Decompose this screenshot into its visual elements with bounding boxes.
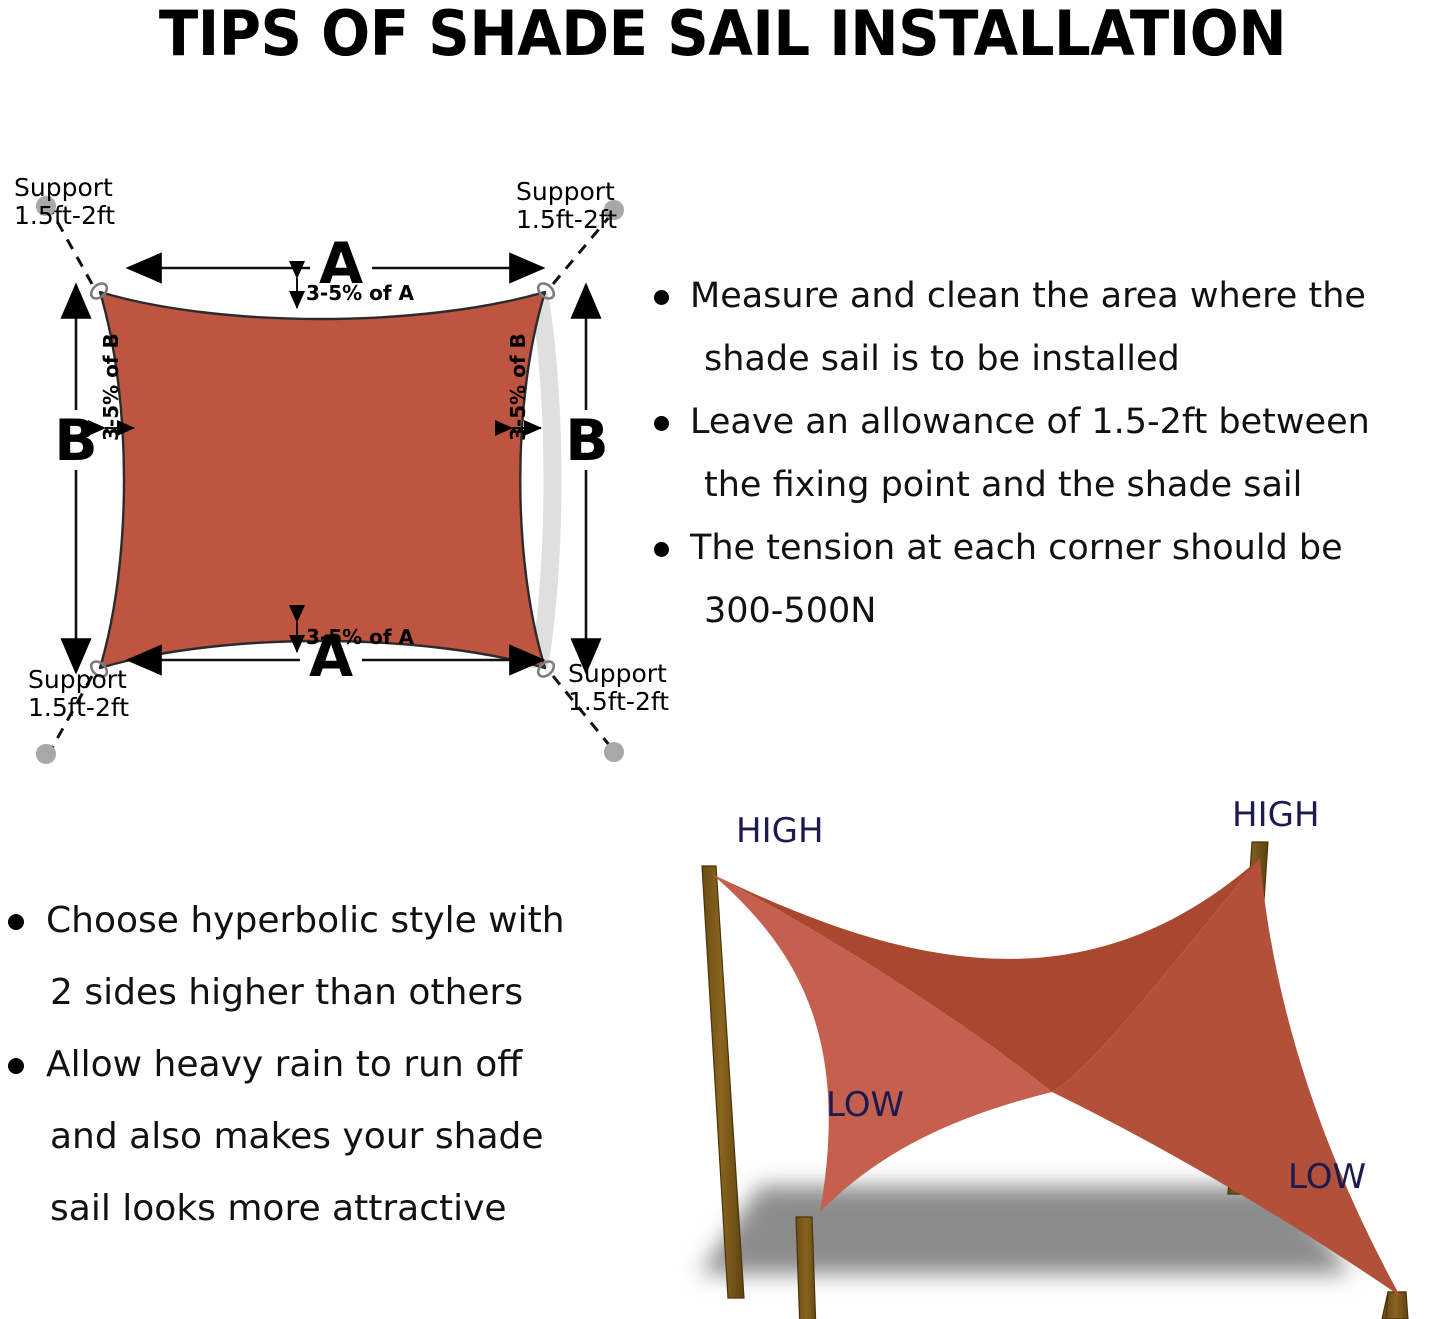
bullet-dot-icon [8, 1058, 24, 1074]
sag-label-bottom: 3-5% of A [306, 625, 415, 649]
bullet-dot-icon [654, 290, 669, 305]
style-tip-line: 2 sides higher than others [50, 960, 620, 1026]
support-label-top-left: Support 1.5ft-2ft [14, 173, 115, 230]
rectangular-sail-diagram: A A B B 3-5% of A 3-5% of A 3-5% of B 3-… [0, 160, 660, 730]
list-item: Leave an allowance of 1.5-2ft between [646, 394, 1445, 451]
sag-label-left: 3-5% of B [99, 333, 123, 441]
list-item: Allow heavy rain to run off [0, 1032, 620, 1098]
style-tip-line: and also makes your shade [50, 1104, 620, 1170]
label-high-left: HIGH [736, 811, 824, 851]
style-tip-line: Choose hyperbolic style with [46, 888, 620, 954]
sag-label-top: 3-5% of A [306, 281, 415, 305]
support-label-bottom-left: Support 1.5ft-2ft [28, 665, 129, 722]
support-label-line1: Support [516, 177, 615, 206]
hyperbolic-style-tips-list: Choose hyperbolic style with 2 sides hig… [0, 888, 620, 1248]
label-high-right: HIGH [1232, 795, 1320, 835]
label-low-left: LOW [826, 1085, 904, 1125]
sag-label-right: 3-5% of B [506, 333, 530, 441]
post-front-right-lower [1386, 1292, 1408, 1319]
list-item: Measure and clean the area where the [646, 268, 1445, 325]
sail-edge-highlight [530, 293, 562, 668]
list-item-continuation: sail looks more attractive [0, 1176, 620, 1242]
bullet-dot-icon [654, 416, 669, 431]
support-label-line1: Support [568, 659, 667, 688]
list-item-continuation: and also makes your shade [0, 1104, 620, 1170]
style-tip-line: sail looks more attractive [50, 1176, 620, 1242]
tip-line: Measure and clean the area where the [690, 268, 1445, 325]
support-label-line2: 1.5ft-2ft [568, 687, 669, 716]
tips-bullets: Measure and clean the area where the sha… [646, 268, 1445, 640]
support-label-line1: Support [14, 173, 113, 202]
list-item-continuation: 2 sides higher than others [0, 960, 620, 1026]
page-title: TIPS OF SHADE SAIL INSTALLATION [51, 0, 1395, 70]
list-item-continuation: the fixing point and the shade sail [646, 457, 1445, 514]
dimension-label-b-left: B [54, 408, 97, 474]
tip-line: shade sail is to be installed [704, 331, 1445, 388]
post-back-left [702, 866, 744, 1298]
installation-tips-list: Measure and clean the area where the sha… [646, 268, 1445, 646]
support-label-line2: 1.5ft-2ft [516, 205, 617, 234]
support-label-top-right: Support 1.5ft-2ft [516, 177, 617, 234]
tip-line: 300-500N [704, 583, 1445, 640]
bullet-dot-icon [654, 542, 669, 557]
shade-sail-shape [100, 292, 545, 668]
list-item-continuation: 300-500N [646, 583, 1445, 640]
tip-line: Leave an allowance of 1.5-2ft between [690, 394, 1445, 451]
support-label-line1: Support [28, 665, 127, 694]
tip-line: The tension at each corner should be [690, 520, 1445, 577]
support-label-line2: 1.5ft-2ft [28, 693, 129, 722]
tip-line: the fixing point and the shade sail [704, 457, 1445, 514]
support-label-line2: 1.5ft-2ft [14, 201, 115, 230]
style-bullets: Choose hyperbolic style with 2 sides hig… [0, 888, 620, 1242]
list-item-continuation: shade sail is to be installed [646, 331, 1445, 388]
label-low-right: LOW [1288, 1157, 1366, 1197]
list-item: The tension at each corner should be [646, 520, 1445, 577]
support-label-bottom-right: Support 1.5ft-2ft [568, 659, 669, 716]
list-item: Choose hyperbolic style with [0, 888, 620, 954]
dimension-label-b-right: B [565, 408, 608, 474]
hyperbolic-sail-diagram: HIGH HIGH LOW LOW [660, 780, 1445, 1319]
style-tip-line: Allow heavy rain to run off [46, 1032, 620, 1098]
bullet-dot-icon [8, 914, 24, 930]
